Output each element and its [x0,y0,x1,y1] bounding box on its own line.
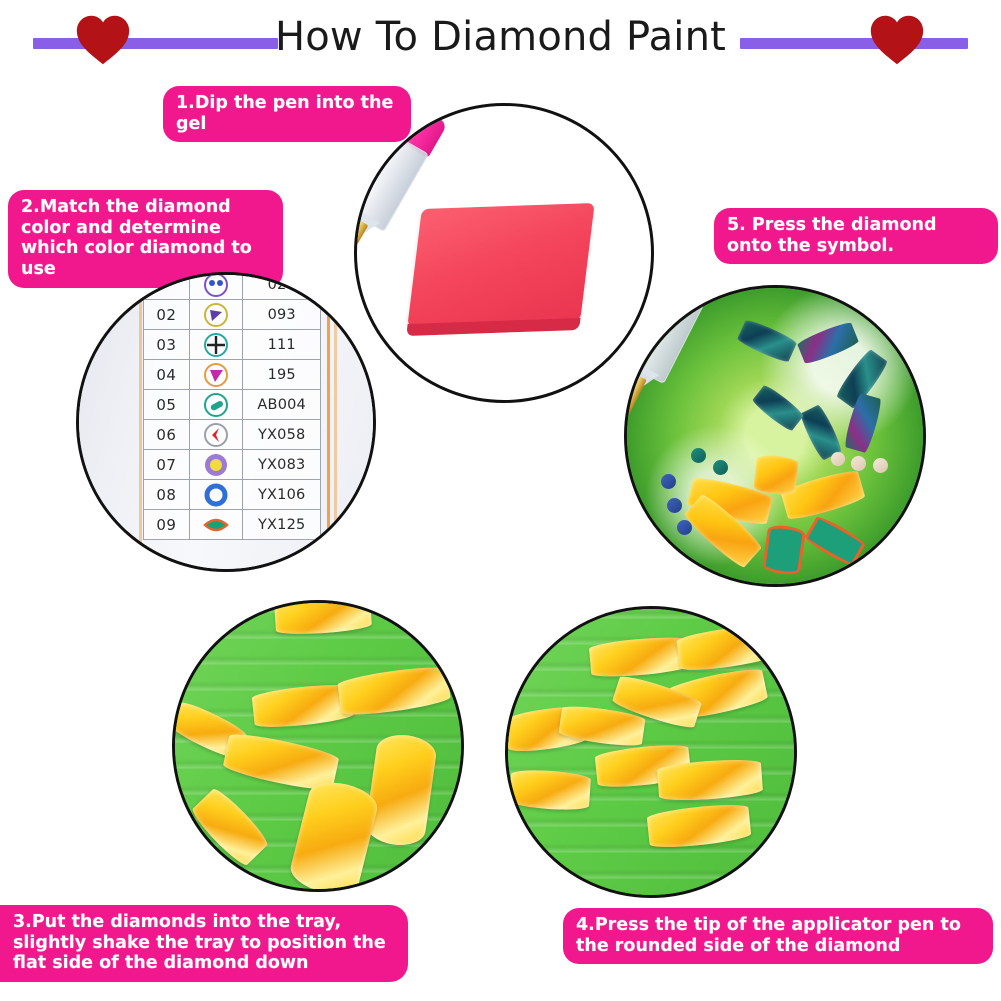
color-chart-code: 093 [243,300,321,330]
step-4-label: 4.Press the tip of the applicator pen to… [563,908,993,964]
color-chart-row: 09YX125 [144,510,321,540]
color-chart-index: 09 [144,510,190,540]
color-chart-row: 02093 [144,300,321,330]
symbol-triangle-flag-icon [189,300,243,330]
yellow-diamond [646,802,751,850]
step-1-photo [354,103,654,403]
teal-leaf-gem [762,524,806,577]
rhinestone-dot [831,452,845,466]
yellow-diamond [274,600,372,636]
rhinestone-dot [661,474,676,489]
color-chart-row: 05AB004 [144,390,321,420]
yellow-diamond [189,785,272,869]
symbol-plus-cross-icon [189,330,243,360]
color-chart-row: 028 [144,272,321,300]
color-chart-row: 06YX058 [144,420,321,450]
step-3-label: 3.Put the diamonds into the tray, slight… [0,905,408,982]
diamond-tray [508,609,794,895]
symbol-red-chevron-icon [189,420,243,450]
color-chart-index: 03 [144,330,190,360]
yellow-diamond [337,664,451,719]
color-chart-code: 028 [243,272,321,300]
step-5-label: 5. Press the diamond onto the symbol. [714,208,998,264]
header-banner: How To Diamond Paint [0,0,1001,80]
symbol-teal-pill-icon [189,390,243,420]
yellow-diamond [287,776,382,892]
yellow-diamond [509,768,591,811]
step-3-photo [172,600,464,892]
color-chart-index: 04 [144,360,190,390]
page-title: How To Diamond Paint [0,14,1001,60]
color-chart-index: 05 [144,390,190,420]
rhinestone [751,383,805,433]
gel-pad [407,203,594,327]
symbol-magenta-wedge-icon [189,360,243,390]
color-chart-table: 02802093031110419505AB00406YX05807YX0830… [143,272,321,540]
color-chart-index: 07 [144,450,190,480]
symbol-orange-teal-leaf-icon [189,510,243,540]
color-chart-index: 02 [144,300,190,330]
color-chart-sheet: 02802093031110419505AB00406YX05807YX0830… [79,275,373,569]
step-4-photo [505,606,797,898]
color-chart-code: AB004 [243,390,321,420]
yellow-diamond [676,623,776,674]
symbol-dual-dot-circle-icon [189,272,243,300]
step-2-photo: 02802093031110419505AB00406YX05807YX0830… [76,272,376,572]
color-chart-code: YX083 [243,450,321,480]
yellow-diamond-being-placed [753,454,799,496]
step-5-photo [624,285,926,587]
infographic-page: How To Diamond Paint 1.Dip the pen into … [0,0,1001,1001]
diamond-painting-canvas [627,288,923,584]
rhinestone-dot [691,448,706,463]
rhinestone-dot [713,460,728,475]
chart-margin-stripe [327,275,330,569]
pen-dipping-into-gel-illustration [357,106,651,400]
symbol-purple-yellow-donut-icon [189,450,243,480]
color-chart-code: 111 [243,330,321,360]
color-chart-row: 03111 [144,330,321,360]
symbol-blue-ring-icon [189,480,243,510]
diamond-tray [175,603,461,889]
color-chart-index [144,272,190,300]
applicator-pen [624,285,715,432]
color-chart-code: 195 [243,360,321,390]
chart-margin-stripe [139,275,142,569]
rhinestone [736,318,798,365]
color-chart-code: YX106 [243,480,321,510]
color-chart-row: 08YX106 [144,480,321,510]
rhinestone-dot [851,456,866,471]
rhinestone-dot [873,458,888,473]
yellow-diamond [657,757,763,802]
color-chart-index: 08 [144,480,190,510]
yellow-diamond [364,731,439,848]
chart-margin-stripe [334,275,337,569]
color-chart-code: YX058 [243,420,321,450]
color-chart-code: YX125 [243,510,321,540]
rhinestone-dot [667,498,682,513]
teal-leaf-gem [803,514,866,568]
color-chart-index: 06 [144,420,190,450]
color-chart-row: 07YX083 [144,450,321,480]
pen-body [505,606,565,680]
rhinestone [796,320,860,366]
color-chart-row: 04195 [144,360,321,390]
